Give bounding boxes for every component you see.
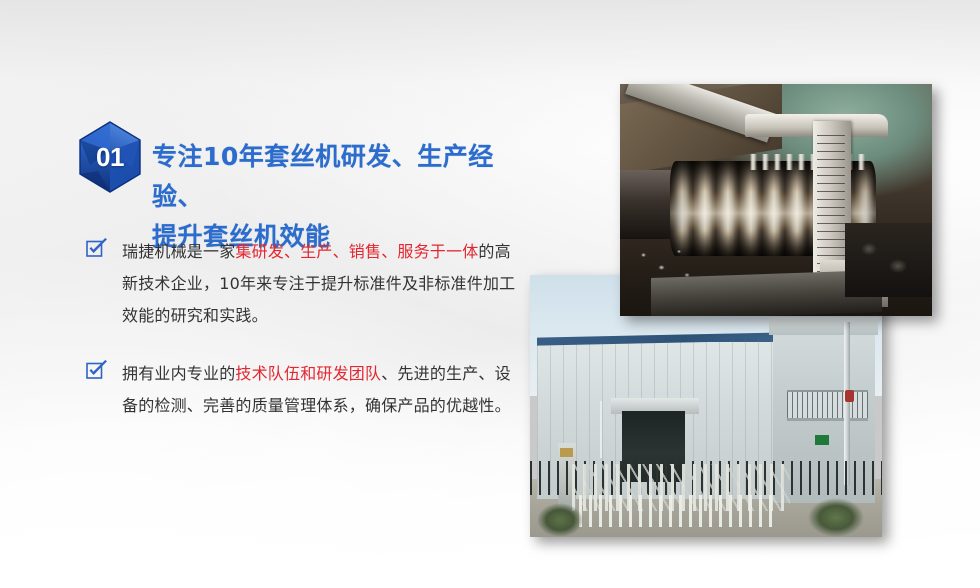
annex-roof <box>769 317 878 335</box>
content-column: 01 专注10年套丝机研发、生产经验、 提升套丝机效能 瑞捷机械是一家集研发、生… <box>0 0 540 588</box>
machining-scene <box>620 84 932 316</box>
check-square-icon <box>86 360 108 380</box>
shrub-left <box>537 503 583 537</box>
bullet-1-segment-2: 集研发、生产、销售、服务于一体 <box>235 242 478 261</box>
list-item: 拥有业内专业的技术队伍和研发团队、先进的生产、设备的检测、完善的质量管理体系，确… <box>86 358 516 422</box>
bullet-2-segment-2: 技术队伍和研发团队 <box>235 364 381 383</box>
shrub-right <box>808 498 864 537</box>
list-item: 瑞捷机械是一家集研发、生产、销售、服务于一体的高新技术企业，10年来专注于提升标… <box>86 236 516 332</box>
company-plaque <box>560 448 573 457</box>
bullet-2-segment-1: 拥有业内专业的 <box>122 364 235 383</box>
list-item-text: 瑞捷机械是一家集研发、生产、销售、服务于一体的高新技术企业，10年来专注于提升标… <box>122 236 516 332</box>
headline-line-1: 专注10年套丝机研发、生产经验、 <box>152 142 494 211</box>
metal-chips <box>845 223 932 297</box>
balcony-railing <box>787 390 868 421</box>
bullet-1-segment-1: 瑞捷机械是一家 <box>122 242 235 261</box>
promo-banner: 01 专注10年套丝机研发、生产经验、 提升套丝机效能 瑞捷机械是一家集研发、生… <box>0 0 980 588</box>
folding-gate-lower <box>579 495 776 526</box>
flag-mast <box>600 401 602 459</box>
step-number: 01 <box>78 121 142 193</box>
caliper-scale <box>817 135 845 274</box>
list-item-text: 拥有业内专业的技术队伍和研发团队、先进的生产、设备的检测、完善的质量管理体系，确… <box>122 358 516 422</box>
feature-list: 瑞捷机械是一家集研发、生产、销售、服务于一体的高新技术企业，10年来专注于提升标… <box>86 236 516 448</box>
alarm-lamp <box>845 390 853 402</box>
exit-sign <box>815 435 829 445</box>
coolant-splash <box>626 237 707 293</box>
threaded-rod-measurement-photo <box>620 84 932 316</box>
step-badge: 01 <box>78 121 142 193</box>
check-square-icon <box>86 238 108 258</box>
